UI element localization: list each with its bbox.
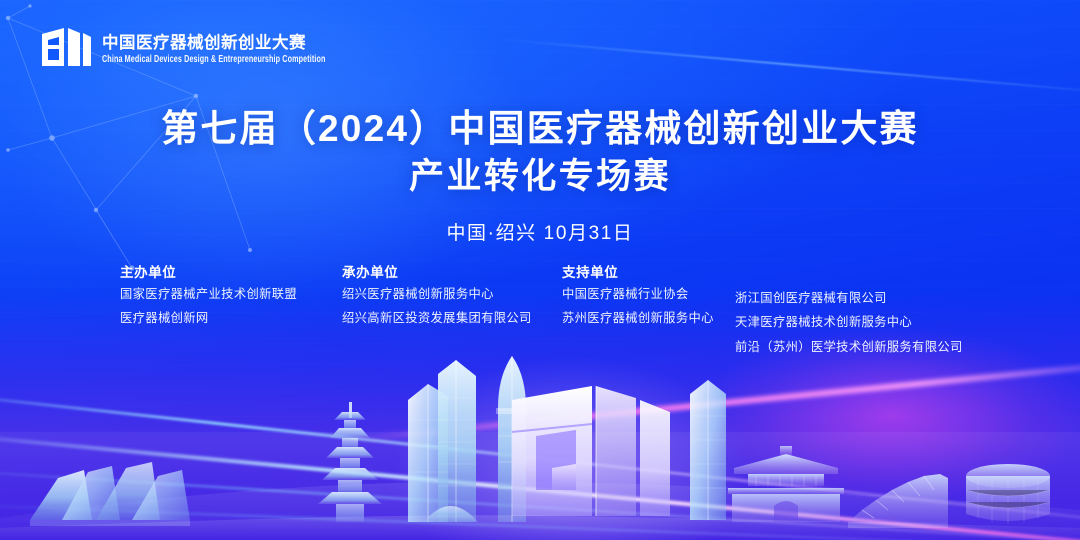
brand-logo[interactable]: 中国医疗器械创新创业大赛 China Medical Devices Desig…: [40, 24, 326, 70]
page-title-line1: 第七届（2024）中国医疗器械创新创业大赛: [0, 108, 1080, 151]
brand-name-en: China Medical Devices Design & Entrepren…: [102, 54, 326, 64]
page-title-line2: 产业转化专场赛: [0, 157, 1080, 198]
event-location-date: 中国·绍兴 10月31日: [0, 218, 1080, 245]
poster-content: 中国医疗器械创新创业大赛 China Medical Devices Desig…: [0, 0, 1080, 540]
organizer-column-coorganizer: 承办单位 绍兴医疗器械创新服务中心 绍兴高新区投资发展集团有限公司: [342, 266, 532, 324]
organizer-item: 天津医疗器械技术创新服务中心: [735, 316, 963, 328]
organizer-item: 浙江国创医疗器械有限公司: [735, 292, 963, 304]
brand-name-cn: 中国医疗器械创新创业大赛: [102, 35, 326, 52]
organizer-column-host: 主办单位 国家医疗器械产业技术创新联盟 医疗器械创新网: [120, 266, 297, 324]
organizer-item: 绍兴医疗器械创新服务中心: [342, 288, 532, 300]
organizer-column-supporter-extra: 浙江国创医疗器械有限公司 天津医疗器械技术创新服务中心 前沿（苏州）医学技术创新…: [735, 266, 963, 353]
organizer-item: 医疗器械创新网: [120, 312, 297, 324]
organizer-item: 国家医疗器械产业技术创新联盟: [120, 288, 297, 300]
organizer-item: 绍兴高新区投资发展集团有限公司: [342, 312, 532, 324]
organizer-item: 中国医疗器械行业协会: [562, 288, 714, 300]
organizer-item: 苏州医疗器械创新服务中心: [562, 312, 714, 324]
competition-door-logo-icon: [40, 24, 92, 70]
organizers-section: 主办单位 国家医疗器械产业技术创新联盟 医疗器械创新网 承办单位 绍兴医疗器械创…: [0, 266, 1080, 366]
poster-stage: 中国医疗器械创新创业大赛 China Medical Devices Desig…: [0, 0, 1080, 540]
brand-logo-text: 中国医疗器械创新创业大赛 China Medical Devices Desig…: [102, 33, 326, 61]
organizer-heading: 支持单位: [562, 266, 714, 280]
title-block: 第七届（2024）中国医疗器械创新创业大赛 产业转化专场赛 中国·绍兴 10月3…: [0, 108, 1080, 245]
organizer-heading: 主办单位: [120, 266, 297, 280]
organizer-column-supporter: 支持单位 中国医疗器械行业协会 苏州医疗器械创新服务中心: [562, 266, 714, 324]
organizer-item: 前沿（苏州）医学技术创新服务有限公司: [735, 341, 963, 353]
organizer-heading: 承办单位: [342, 266, 532, 280]
